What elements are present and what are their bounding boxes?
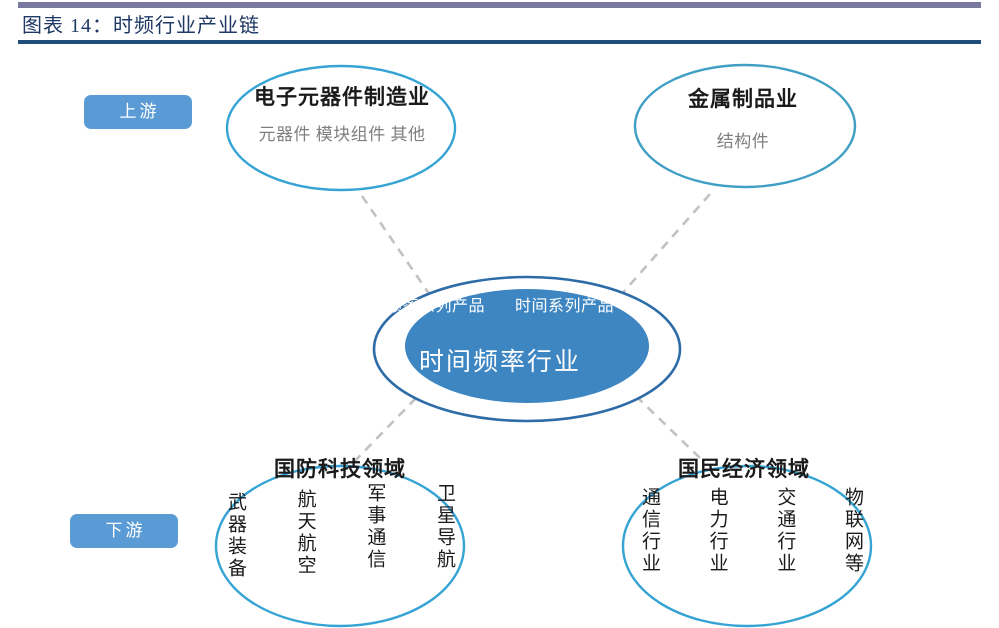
ellipse-metal-products	[635, 65, 855, 187]
node-economy-title: 国民经济领域	[624, 453, 864, 483]
connector-electronic-to-center	[362, 196, 432, 298]
economy-column-power: 电力行业	[708, 487, 727, 575]
node-economy-columns: 通信行业 电力行业 交通行业 物联网等	[640, 483, 862, 575]
ellipse-electronic-components	[227, 66, 455, 190]
stage-badge-downstream[interactable]: 下游	[70, 514, 178, 548]
economy-column-transport: 交通行业	[775, 487, 794, 575]
economy-column-iot: 物联网等	[843, 487, 862, 575]
defense-column-aerospace: 航天航空	[296, 489, 315, 580]
figure-title: 图表 14：时频行业产业链	[22, 9, 260, 38]
defense-column-military-comm: 军事通信	[365, 483, 384, 580]
industry-chain-diagram: 上游 下游 电子元器件制造业 元器件 模块组件 其他 金属制品业 结构件 频率系…	[0, 46, 999, 628]
defense-column-satellite-nav: 卫星导航	[435, 483, 454, 580]
center-product-time: 时间系列产品	[515, 292, 614, 316]
connector-metal-to-center	[620, 194, 710, 296]
center-product-frequency: 频率系列产品	[386, 292, 485, 316]
node-defense-columns: 武器装备 航天航空 军事通信 卫星导航	[226, 483, 454, 580]
center-product-labels: 频率系列产品 时间系列产品	[386, 292, 614, 316]
center-industry-title: 时间频率行业	[350, 342, 650, 378]
stage-badge-upstream[interactable]: 上游	[84, 95, 192, 129]
node-defense-title: 国防科技领域	[220, 453, 460, 483]
defense-column-weapons: 武器装备	[226, 492, 245, 580]
header-bottom-rule	[18, 40, 981, 44]
economy-column-communication: 通信行业	[640, 487, 659, 575]
header-top-rule	[18, 2, 981, 8]
